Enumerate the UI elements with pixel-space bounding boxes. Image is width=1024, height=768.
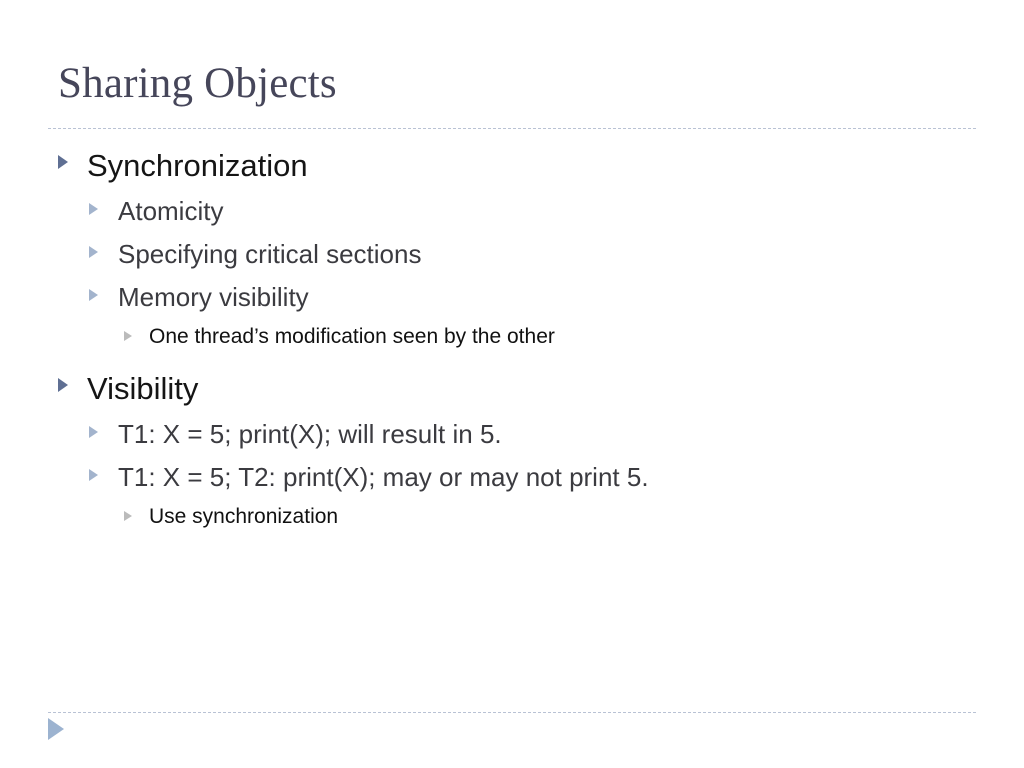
list-item-label: Use synchronization [149,501,338,533]
list-item[interactable]: Synchronization [0,144,1024,190]
triangle-right-icon [89,203,98,215]
triangle-right-icon [124,331,132,341]
list-item[interactable]: Memory visibility [0,278,1024,318]
footer-divider [48,712,976,713]
list-item-label: T1: X = 5; print(X); will result in 5. [118,415,502,453]
list-item-label: One thread’s modification seen by the ot… [149,321,555,353]
list-item-label: Specifying critical sections [118,235,421,273]
list-item-label: Memory visibility [118,278,309,316]
list-item-label: Atomicity [118,192,223,230]
triangle-right-icon [89,426,98,438]
title-divider [48,128,976,129]
list-item-label: T1: X = 5; T2: print(X); may or may not … [118,458,649,496]
triangle-right-icon [124,511,132,521]
slide-body-list: Synchronization Atomicity Specifying cri… [0,144,1024,537]
list-item[interactable]: T1: X = 5; print(X); will result in 5. [0,415,1024,455]
list-item[interactable]: One thread’s modification seen by the ot… [0,321,1024,355]
list-item[interactable]: Atomicity [0,192,1024,232]
list-item-label: Visibility [87,367,198,411]
triangle-right-icon[interactable] [48,718,64,740]
page-title: Sharing Objects [58,62,978,105]
triangle-right-icon [89,289,98,301]
triangle-right-icon [89,469,98,481]
triangle-right-icon [58,155,68,169]
list-item[interactable]: Visibility [0,367,1024,413]
list-item[interactable]: Use synchronization [0,501,1024,535]
triangle-right-icon [89,246,98,258]
triangle-right-icon [58,378,68,392]
list-item[interactable]: T1: X = 5; T2: print(X); may or may not … [0,458,1024,498]
slide-title-block: Sharing Objects [58,62,978,105]
slide-canvas: Sharing Objects Synchronization Atomicit… [0,0,1024,768]
list-item[interactable]: Specifying critical sections [0,235,1024,275]
list-item-label: Synchronization [87,144,308,188]
